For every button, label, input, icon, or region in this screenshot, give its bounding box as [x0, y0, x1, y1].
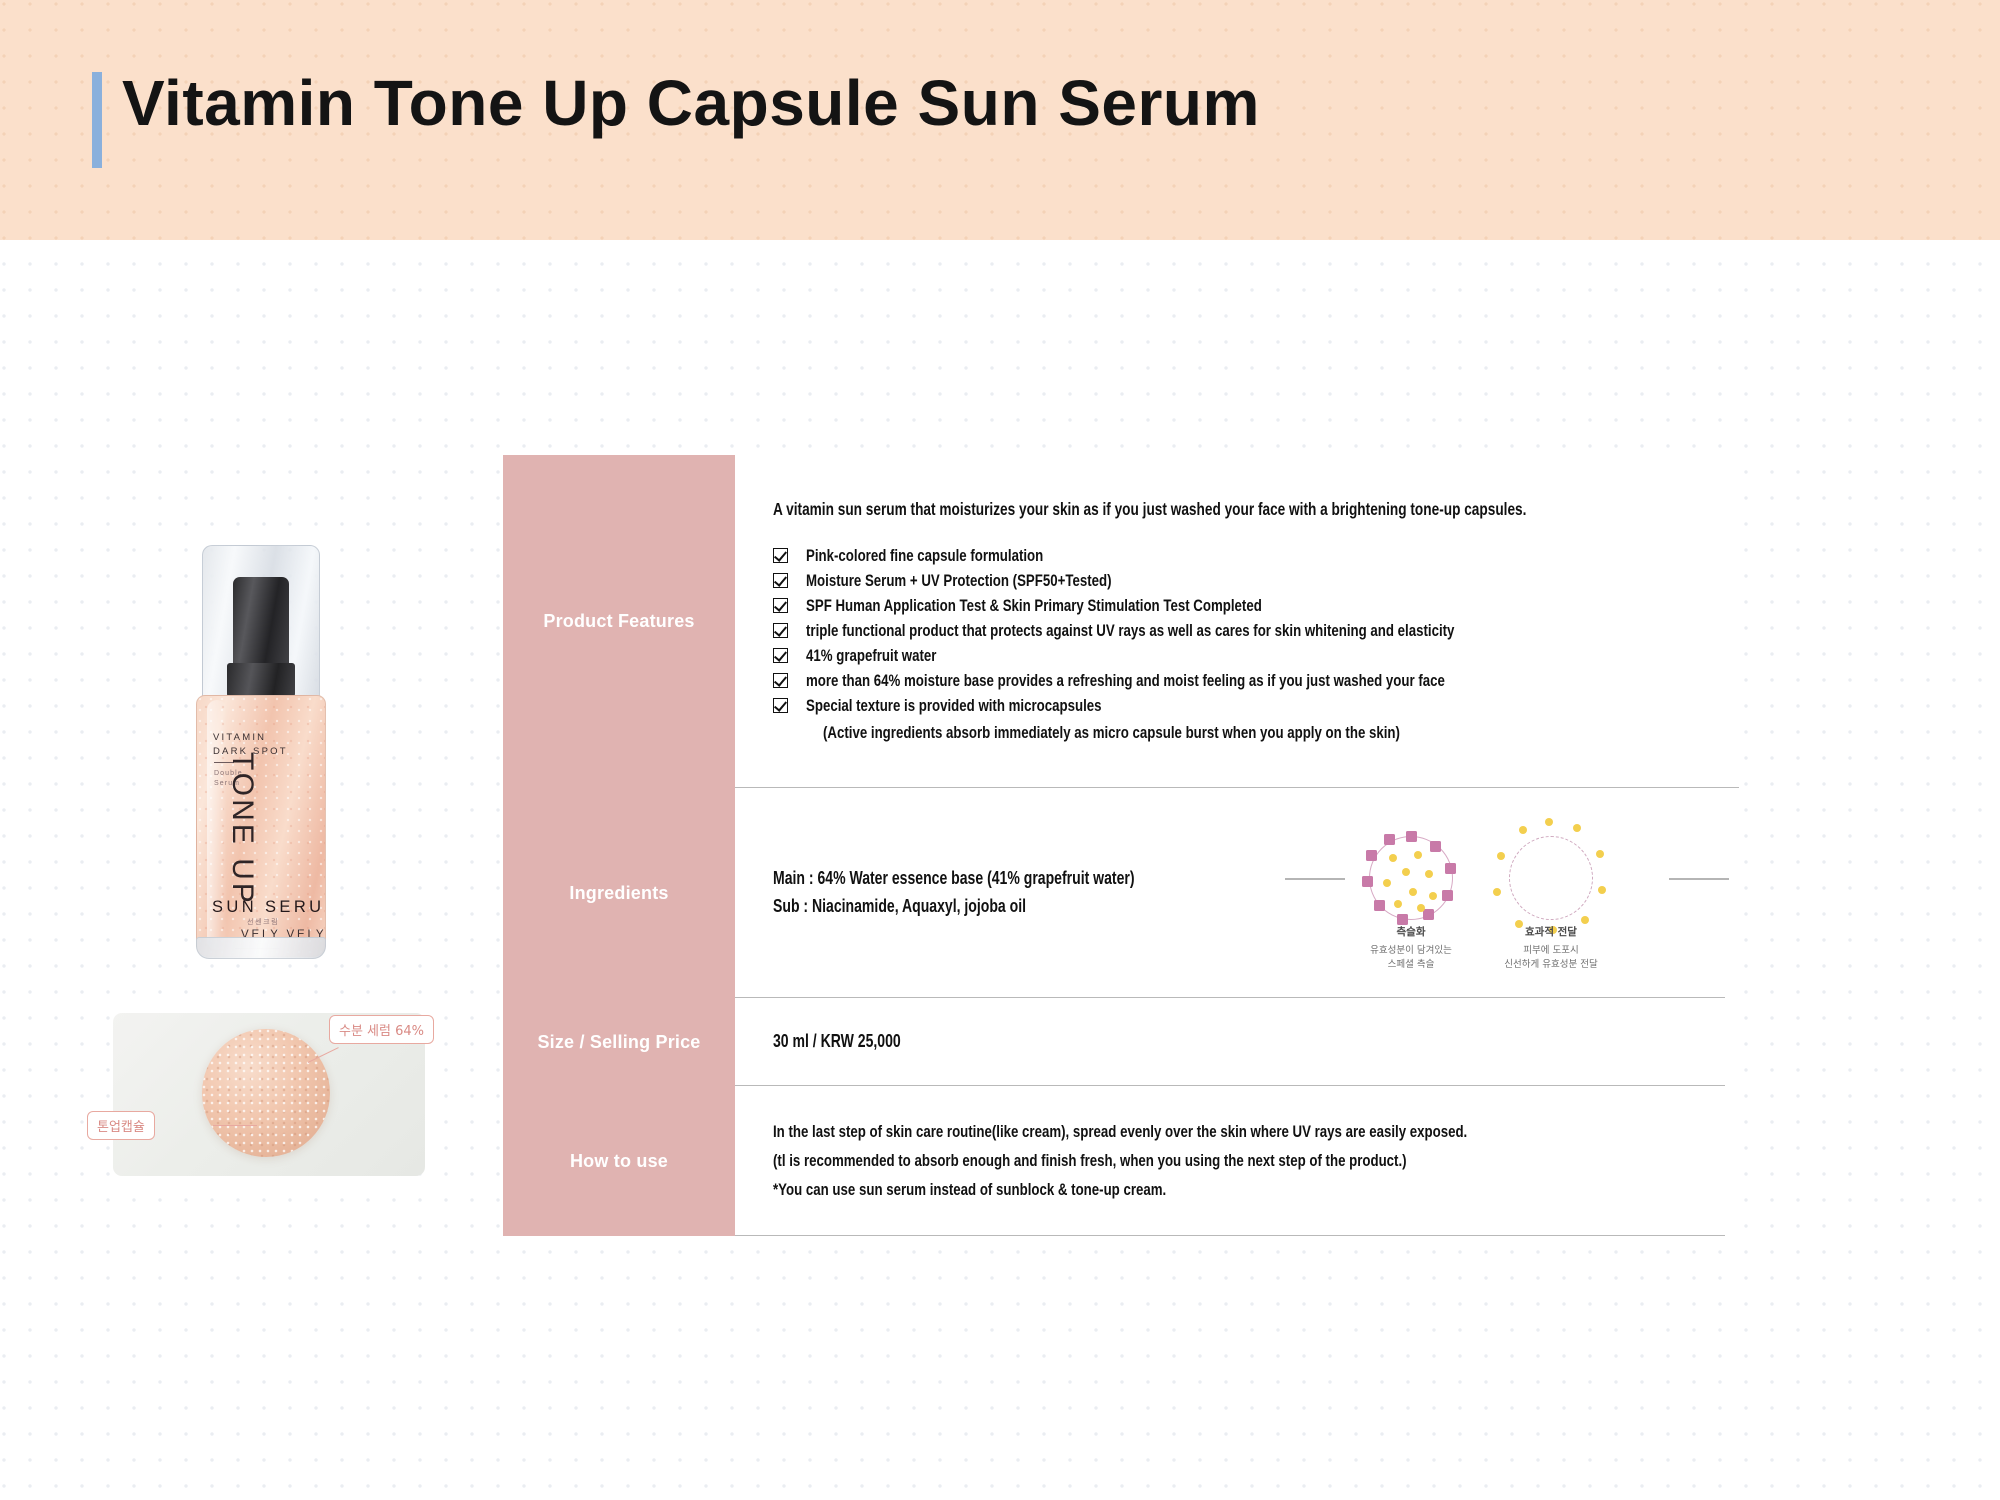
product-spec-table: Product Features A vitamin sun serum tha… [503, 455, 1725, 1236]
feature-item-label: more than 64% moisture base provides a r… [806, 671, 1445, 691]
feature-list-item: more than 64% moisture base provides a r… [773, 671, 1739, 691]
table-row-size-price: Size / Selling Price 30 ml / KRW 25,000 [503, 998, 1725, 1086]
how-to-use-line-2: (tl is recommended to absorb enough and … [773, 1146, 1516, 1175]
active-ingredient-dot [1409, 888, 1417, 896]
how-to-use-line-3: *You can use sun serum instead of sunblo… [773, 1175, 1516, 1204]
capsule-shell-block [1430, 841, 1441, 852]
released-ingredient-dot [1497, 852, 1505, 860]
released-ingredient-dot [1598, 886, 1606, 894]
capsule-right-caption-line2: 신선하게 유효성분 전달 [1483, 958, 1619, 972]
serum-swatch-blob [202, 1029, 330, 1157]
released-ingredient-dot [1573, 824, 1581, 832]
row-label-product-features: Product Features [503, 455, 735, 788]
bottle-label-sunserum: SUN SERUM [212, 898, 326, 917]
checkbox-checked-icon [773, 548, 788, 563]
size-price-value: 30 ml / KRW 25,000 [773, 1031, 1516, 1052]
features-checklist: Pink-colored fine capsule formulation Mo… [773, 546, 1739, 721]
capsule-mechanism-figure: 측슬화 유효성분이 담겨있는 스페셜 측슬 효과적 전달 피부에 도포시 신선하… [1347, 816, 1667, 976]
active-ingredient-dot [1417, 904, 1425, 912]
capsule-shell-block [1406, 831, 1417, 842]
capsule-intact-diagram [1357, 824, 1465, 932]
row-label-ingredients: Ingredients [503, 788, 735, 998]
bottle-base [196, 937, 326, 959]
released-ingredient-dot [1519, 826, 1527, 834]
checkbox-checked-icon [773, 648, 788, 663]
capsule-right-caption-line1: 피부에 도포시 [1483, 944, 1619, 958]
row-label-size-price: Size / Selling Price [503, 998, 735, 1086]
active-ingredient-dot [1414, 851, 1422, 859]
capsule-shell-block [1374, 900, 1385, 911]
capsule-broken-shell-ring [1509, 836, 1593, 920]
callout-leader-left [213, 1125, 257, 1126]
feature-item-label: SPF Human Application Test & Skin Primar… [806, 596, 1262, 616]
checkbox-checked-icon [773, 698, 788, 713]
feature-item-label: Pink-colored fine capsule formulation [806, 546, 1043, 566]
row-body-size-price: 30 ml / KRW 25,000 [735, 998, 1725, 1086]
feature-list-item: 41% grapefruit water [773, 646, 1739, 666]
feature-item-label: triple functional product that protects … [806, 621, 1454, 641]
feature-list-item: Moisture Serum + UV Protection (SPF50+Te… [773, 571, 1739, 591]
capsule-left-caption-title: 측슬화 [1351, 924, 1471, 939]
texture-swatch-card: 수분 세럼 64% 톤업캡슐 [113, 1013, 425, 1176]
row-body-how-to-use: In the last step of skin care routine(li… [735, 1086, 1725, 1236]
active-ingredient-dot [1383, 879, 1391, 887]
feature-item-label: Moisture Serum + UV Protection (SPF50+Te… [806, 571, 1112, 591]
active-ingredient-dot [1389, 854, 1397, 862]
features-note-text: (Active ingredients absorb immediately a… [823, 723, 1537, 743]
how-to-use-line-1: In the last step of skin care routine(li… [773, 1117, 1516, 1146]
row-body-product-features: A vitamin sun serum that moisturizes you… [735, 455, 1739, 788]
checkbox-checked-icon [773, 623, 788, 638]
bottle-label-toneup: TONE UP [226, 752, 259, 906]
active-ingredient-dot [1425, 870, 1433, 878]
row-label-how-to-use: How to use [503, 1086, 735, 1236]
released-ingredient-dot [1545, 818, 1553, 826]
active-ingredient-dot [1429, 892, 1437, 900]
feature-list-item: triple functional product that protects … [773, 621, 1739, 641]
row-body-ingredients: Main : 64% Water essence base (41% grape… [735, 788, 1725, 998]
bottle-body: VITAMIN DARK SPOT Double Serum TONE UP S… [196, 695, 326, 957]
checkbox-checked-icon [773, 573, 788, 588]
checkbox-checked-icon [773, 598, 788, 613]
table-row-how-to-use: How to use In the last step of skin care… [503, 1086, 1725, 1236]
page-title: Vitamin Tone Up Capsule Sun Serum [122, 66, 1260, 140]
capsule-shell-block [1445, 863, 1456, 874]
feature-list-item: Special texture is provided with microca… [773, 696, 1739, 716]
figure-rule-left [1285, 878, 1345, 880]
capsule-shell-block [1362, 876, 1373, 887]
capsule-left-caption-line2: 스페셜 측슬 [1351, 958, 1471, 972]
active-ingredient-dot [1402, 868, 1410, 876]
active-ingredient-dot [1394, 900, 1402, 908]
released-ingredient-dot [1581, 916, 1589, 924]
capsule-left-caption: 측슬화 유효성분이 담겨있는 스페셜 측슬 [1351, 924, 1471, 972]
capsule-shell-block [1366, 850, 1377, 861]
callout-toneup-capsule: 톤업캡슐 [87, 1111, 155, 1140]
capsule-right-caption: 효과적 전달 피부에 도포시 신선하게 유효성분 전달 [1483, 924, 1619, 972]
capsule-shell-block [1384, 834, 1395, 845]
table-row-ingredients: Ingredients Main : 64% Water essence bas… [503, 788, 1725, 998]
bottle-pump-collar [227, 663, 295, 697]
figure-rule-right [1669, 878, 1729, 880]
feature-list-item: SPF Human Application Test & Skin Primar… [773, 596, 1739, 616]
features-intro-text: A vitamin sun serum that moisturizes you… [773, 499, 1526, 520]
capsule-right-caption-title: 효과적 전달 [1483, 924, 1619, 939]
released-ingredient-dot [1493, 888, 1501, 896]
feature-item-label: 41% grapefruit water [806, 646, 936, 666]
released-ingredient-dot [1596, 850, 1604, 858]
capsule-shell-block [1423, 909, 1434, 920]
callout-moisture-serum: 수분 세럼 64% [329, 1015, 434, 1044]
capsule-shell-block [1442, 890, 1453, 901]
title-accent-bar [92, 72, 102, 168]
product-bottle-image: VITAMIN DARK SPOT Double Serum TONE UP S… [188, 545, 334, 965]
bottle-label-vitamin: VITAMIN [213, 732, 266, 743]
capsule-left-caption-line1: 유효성분이 담겨있는 [1351, 944, 1471, 958]
table-row-product-features: Product Features A vitamin sun serum tha… [503, 455, 1725, 788]
capsule-burst-diagram [1497, 824, 1605, 932]
feature-list-item: Pink-colored fine capsule formulation [773, 546, 1739, 566]
bottle-label-korean: 선센크림 [247, 917, 279, 927]
checkbox-checked-icon [773, 673, 788, 688]
swatch-capsule-grain [202, 1029, 330, 1157]
feature-item-label: Special texture is provided with microca… [806, 696, 1102, 716]
